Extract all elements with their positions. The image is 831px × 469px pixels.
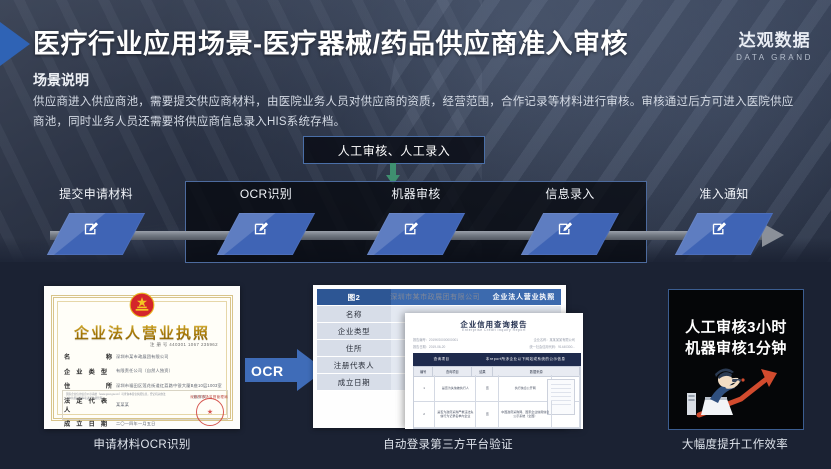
table-cell-key: 注册代表人 <box>317 357 391 373</box>
license-field-row: 企 业 类 型 有限责任公司（自然人独资） <box>64 367 226 376</box>
credit-report-cell-thumb <box>552 401 580 427</box>
flow-step-4[interactable]: 信息录入 <box>510 185 630 202</box>
official-seal-icon <box>196 398 224 426</box>
license-field-value: 有限责任公司（自然人独资） <box>116 368 226 374</box>
flow-step-5[interactable]: 准入通知 <box>664 185 784 202</box>
license-title: 企业法人营业执照 <box>44 322 240 343</box>
credit-report-image: 企业信用查询报告 Enterprise Credit Inquiry Repor… <box>405 313 583 429</box>
license-field-row: 住 所 深圳市福田区莲花街道红荔路中银大厦B座10层1003室 <box>64 381 226 390</box>
brand-logo: 达观数据 DATA GRAND <box>736 26 813 62</box>
credit-report-cell-source: 中国政府采购网、国家企业信用信息公示系统（全国） <box>499 401 552 427</box>
credit-report-meta-right-1: 企业名称：某某某某有限公司 <box>534 337 575 342</box>
credit-report-cell-source: 执行信息公开网 <box>499 375 552 401</box>
section-description: 供应商进入供应商池，需要提交供应商材料，由医院业务人员对供应商的资质，经营范围，… <box>33 92 801 132</box>
credit-report-table-body: 1 是否为失信被执行人 否 执行信息公开网 2 是否为政府采购严重违法失信行为记… <box>413 375 581 429</box>
license-field-key: 名 称 <box>64 352 116 361</box>
credit-report-cell-result: 否 <box>476 375 499 401</box>
credit-report-cell-no: 2 <box>414 401 435 427</box>
credit-report-meta-left-1: 报告编号：2019KS0000000001 <box>413 337 458 342</box>
credit-report-meta-row-2: 报告日期：2019-06-20 统一社会信用代码：91440300... <box>413 344 575 349</box>
table-header-value-text: 企业法人营业执照 <box>493 292 555 302</box>
flow-step-1[interactable]: 提交申请材料 <box>36 185 156 202</box>
extracted-panel-caption: 自动登录第三方平台验证 <box>313 436 583 452</box>
efficiency-panel: 人工审核3小时 机器审核1分钟 <box>668 289 804 430</box>
flow-step-2-label: OCR识别 <box>206 185 326 202</box>
edit-document-icon <box>83 221 100 237</box>
credit-report-cell-item: 是否为政府采购严重违法失信行为记录名单内企业 <box>435 401 476 427</box>
license-field-value: 深圳市某市政展团有限公司 <box>116 354 226 360</box>
table-row: 2 是否为政府采购严重违法失信行为记录名单内企业 否 中国政府采购网、国家企业信… <box>414 401 580 428</box>
license-field-value: 深圳市福田区莲花街道红荔路中银大厦B座10层1003室 <box>116 383 226 389</box>
table-cell-key: 企业类型 <box>317 323 391 339</box>
table-row: 1 是否为失信被执行人 否 执行信息公开网 <box>414 375 580 402</box>
flow-step-3[interactable]: 机器审核 <box>356 185 476 202</box>
page-title: 医疗行业应用场景-医疗器械/药品供应商准入审核 <box>33 22 628 61</box>
license-field-key: 成 立 日 期 <box>64 419 116 428</box>
person-with-rising-arrow-illustration-icon <box>683 363 791 421</box>
edit-document-icon <box>711 221 728 237</box>
table-cell-ghost-text: 深圳市某市政展团有限公司 <box>390 292 480 302</box>
edit-document-icon <box>557 221 574 237</box>
table-cell-key: 住所 <box>317 340 391 356</box>
credit-report-cell-result: 否 <box>476 401 499 427</box>
credit-report-table-header: 查询项目 本report所涉企业以下网站或系统的公示信息 <box>413 353 581 366</box>
header-accent-triangle-icon <box>0 22 30 66</box>
national-emblem-icon <box>126 290 158 320</box>
manual-review-box: 人工审核、人工录入 <box>303 136 485 164</box>
credit-report-subtitle: Enterprise Credit Inquiry Report <box>405 328 583 332</box>
credit-report-meta-left-2: 报告日期：2019-06-20 <box>413 344 445 349</box>
table-header-key: 图2 <box>317 289 391 305</box>
license-field-key: 住 所 <box>64 381 116 390</box>
table-cell-key: 名称 <box>317 306 391 322</box>
efficiency-line-2: 机器审核1分钟 <box>669 337 803 358</box>
credit-report-cell-item: 是否为失信被执行人 <box>435 375 476 401</box>
brand-logo-en: DATA GRAND <box>736 53 813 62</box>
section-subtitle: 场景说明 <box>33 70 89 90</box>
efficiency-panel-caption: 大幅度提升工作效率 <box>668 436 802 452</box>
license-panel-caption: 申请材料OCR识别 <box>44 436 240 452</box>
edit-document-icon <box>253 221 270 237</box>
license-field-row: 名 称 深圳市某市政展团有限公司 <box>64 352 226 361</box>
ocr-arrow-label: OCR <box>251 363 284 379</box>
business-license-image: 企业法人营业执照 注 册 号 440301 1067 235962 名 称 深圳… <box>44 286 240 429</box>
edit-document-icon <box>403 221 420 237</box>
credit-report-meta-right-2: 统一社会信用代码：91440300... <box>529 344 575 349</box>
license-footer-note: 国家企业信用信息公示系统（www.gsxt.gov.cn）可查询本营业执照信息，… <box>66 393 168 401</box>
flow-step-1-label: 提交申请材料 <box>36 185 156 202</box>
flow-step-2[interactable]: OCR识别 <box>206 185 326 202</box>
license-field-key: 企 业 类 型 <box>64 367 116 376</box>
table-cell-key: 成立日期 <box>317 374 391 390</box>
manual-review-label: 人工审核、人工录入 <box>338 142 451 159</box>
slide-root: 医疗行业应用场景-医疗器械/药品供应商准入审核 达观数据 DATA GRAND … <box>0 0 831 469</box>
credit-report-cell-thumb <box>552 375 580 401</box>
credit-report-meta-row-1: 报告编号：2019KS0000000001 企业名称：某某某某有限公司 <box>413 337 575 342</box>
flow-step-3-label: 机器审核 <box>356 185 476 202</box>
efficiency-line-1: 人工审核3小时 <box>669 316 803 337</box>
credit-report-cell-no: 1 <box>414 375 435 401</box>
flow-step-5-label: 准入通知 <box>664 185 784 202</box>
brand-logo-cn: 达观数据 <box>736 26 813 51</box>
flow-step-4-label: 信息录入 <box>510 185 630 202</box>
credit-report-header-cell: 查询项目 <box>413 353 470 366</box>
credit-report-header-cell: 本report所涉企业以下网站或系统的公示信息 <box>470 353 581 366</box>
license-reg-no: 注 册 号 440301 1067 235962 <box>150 342 218 348</box>
